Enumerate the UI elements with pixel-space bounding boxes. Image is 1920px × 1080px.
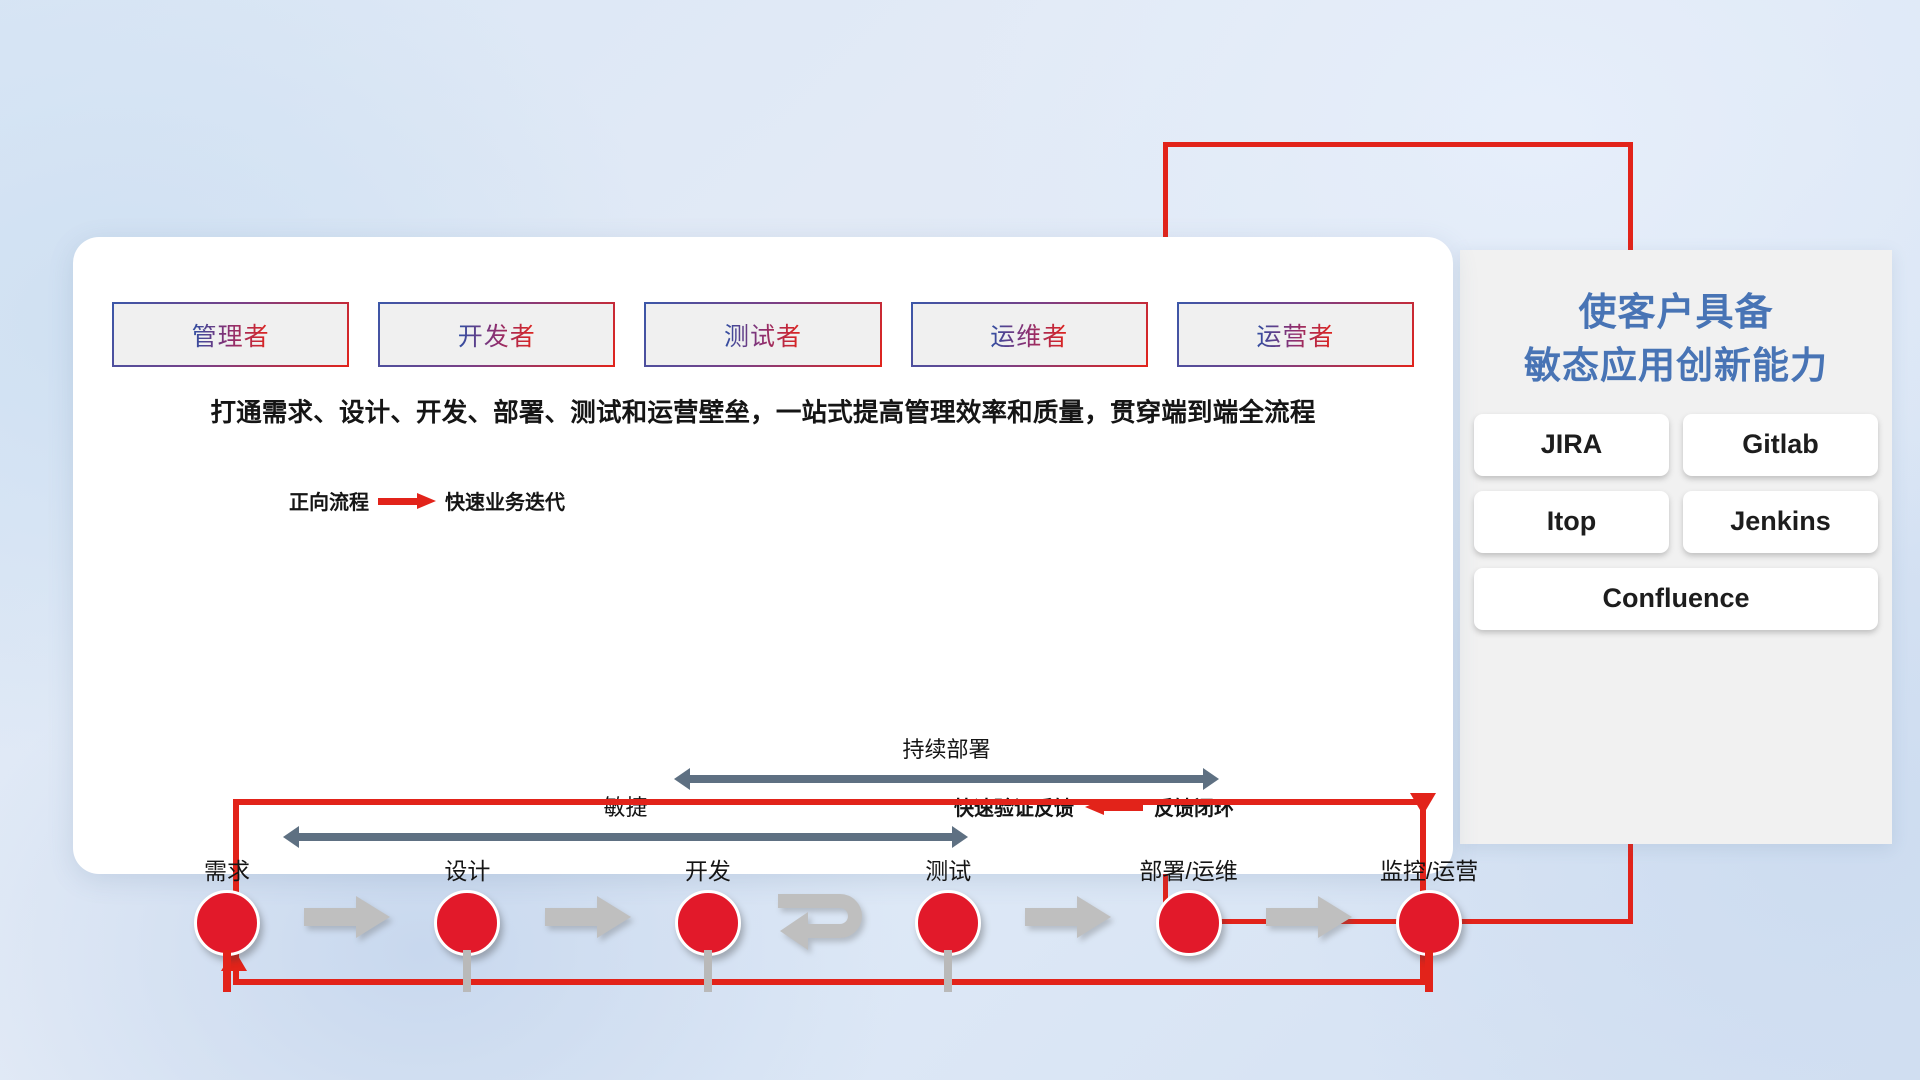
tool-chip-itop[interactable]: Itop <box>1474 491 1669 553</box>
role-label: 运维者 <box>990 317 1068 353</box>
role-box-ops[interactable]: 运维者 <box>911 302 1148 367</box>
arrow-right-block-icon <box>545 896 631 938</box>
tool-chip-label: JIRA <box>1541 429 1603 460</box>
pipeline-gap <box>286 852 408 992</box>
span-arrow-continuous-deployment: 持续部署 <box>674 768 1219 790</box>
slide-canvas: 管理者 开发者 测试者 运维者 运营者 打通需求、设计、开发、部署、测试和运营壁… <box>0 0 1920 1080</box>
pipeline-node-label: 需求 <box>204 852 250 886</box>
pipeline-gap <box>1248 852 1370 992</box>
arrow-right-red-icon <box>378 493 436 509</box>
tool-chip-list: JIRA Gitlab Itop Jenkins Confluence <box>1474 414 1878 630</box>
pipeline-node-dot <box>1396 890 1462 956</box>
arrowhead-right-icon <box>952 826 968 848</box>
pipeline-node-label: 开发 <box>685 852 731 886</box>
arrowhead-right-icon <box>1203 768 1219 790</box>
legend-forward-source-label: 正向流程 <box>289 486 369 515</box>
pipeline-node-testing[interactable]: 测试 <box>889 852 1007 956</box>
pipeline-node-label: 测试 <box>925 852 971 886</box>
pipeline-node-deploy-ops[interactable]: 部署/运维 <box>1130 852 1248 956</box>
arrow-right-block-icon <box>304 896 390 938</box>
tool-chip-label: Confluence <box>1602 583 1749 614</box>
legend-forward-target-label: 快速业务迭代 <box>445 486 565 515</box>
outcome-panel: 使客户具备 敏态应用创新能力 JIRA Gitlab Itop Jenkins … <box>1460 250 1892 844</box>
arrow-uturn-loop-icon <box>778 888 878 950</box>
outcome-title-line-2: 敏态应用创新能力 <box>1460 340 1892 392</box>
pipeline-node-stem <box>1425 950 1433 992</box>
arrow-right-block-icon <box>1025 896 1111 938</box>
tool-chip-label: Gitlab <box>1742 429 1819 460</box>
pipeline-node-label: 监控/运营 <box>1380 852 1478 886</box>
pipeline-node-dot <box>675 890 741 956</box>
legend-feedback-loop: 快速验证反馈 反馈闭环 <box>954 792 1234 821</box>
arrow-left-red-icon <box>1085 799 1143 815</box>
pipeline-node-stem <box>463 950 471 992</box>
span-label-agile: 敏捷 <box>283 790 968 822</box>
pipeline-node-dot <box>915 890 981 956</box>
pipeline-node-development[interactable]: 开发 <box>649 852 767 956</box>
pipeline-node-stem <box>704 950 712 992</box>
pipeline-node-design[interactable]: 设计 <box>408 852 526 956</box>
legend-forward-flow: 正向流程 快速业务迭代 <box>289 486 565 515</box>
outcome-panel-title: 使客户具备 敏态应用创新能力 <box>1460 287 1892 392</box>
pipeline-gap <box>526 852 648 992</box>
outcome-title-line-1: 使客户具备 <box>1460 287 1892 340</box>
role-box-operations[interactable]: 运营者 <box>1177 302 1414 367</box>
span-label-continuous-deployment: 持续部署 <box>674 732 1219 764</box>
pipeline-gap <box>1007 852 1129 992</box>
pipeline-node-dot <box>1156 890 1222 956</box>
feedback-loop-arrowhead-down <box>1410 793 1436 815</box>
pipeline-node-label: 部署/运维 <box>1139 852 1237 886</box>
tool-chip-label: Jenkins <box>1730 506 1831 537</box>
pipeline-node-dot <box>194 890 260 956</box>
pipeline-node-dot <box>434 890 500 956</box>
role-box-developer[interactable]: 开发者 <box>378 302 615 367</box>
devops-flow-card: 管理者 开发者 测试者 运维者 运营者 打通需求、设计、开发、部署、测试和运营壁… <box>73 237 1453 874</box>
pipeline-node-stem <box>223 950 231 992</box>
tool-chip-jenkins[interactable]: Jenkins <box>1683 491 1878 553</box>
arrow-shaft <box>688 775 1205 783</box>
tool-chip-confluence[interactable]: Confluence <box>1474 568 1878 630</box>
role-label: 开发者 <box>458 317 536 353</box>
arrow-right-block-icon <box>1266 896 1352 938</box>
role-row: 管理者 开发者 测试者 运维者 运营者 <box>112 302 1414 367</box>
legend-feedback-source-label: 反馈闭环 <box>1154 792 1234 821</box>
role-label: 运营者 <box>1256 317 1334 353</box>
pipeline-node-requirements[interactable]: 需求 <box>168 852 286 956</box>
pipeline-node-stem <box>944 950 952 992</box>
card-description: 打通需求、设计、开发、部署、测试和运营壁垒，一站式提高管理效率和质量，贯穿端到端… <box>73 392 1453 429</box>
tool-chip-gitlab[interactable]: Gitlab <box>1683 414 1878 476</box>
role-box-manager[interactable]: 管理者 <box>112 302 349 367</box>
pipeline-gap-iteration <box>767 852 889 992</box>
tool-chip-jira[interactable]: JIRA <box>1474 414 1669 476</box>
role-label: 管理者 <box>192 317 270 353</box>
legend-feedback-target-label: 快速验证反馈 <box>954 792 1074 821</box>
role-label: 测试者 <box>724 317 802 353</box>
role-box-tester[interactable]: 测试者 <box>644 302 881 367</box>
pipeline-node-monitor-operations[interactable]: 监控/运营 <box>1370 852 1488 956</box>
pipeline-node-label: 设计 <box>444 852 490 886</box>
tool-chip-label: Itop <box>1547 506 1596 537</box>
arrow-shaft <box>297 833 954 841</box>
span-arrow-agile: 敏捷 <box>283 826 968 848</box>
delivery-pipeline: 需求 设计 开发 <box>168 852 1488 992</box>
